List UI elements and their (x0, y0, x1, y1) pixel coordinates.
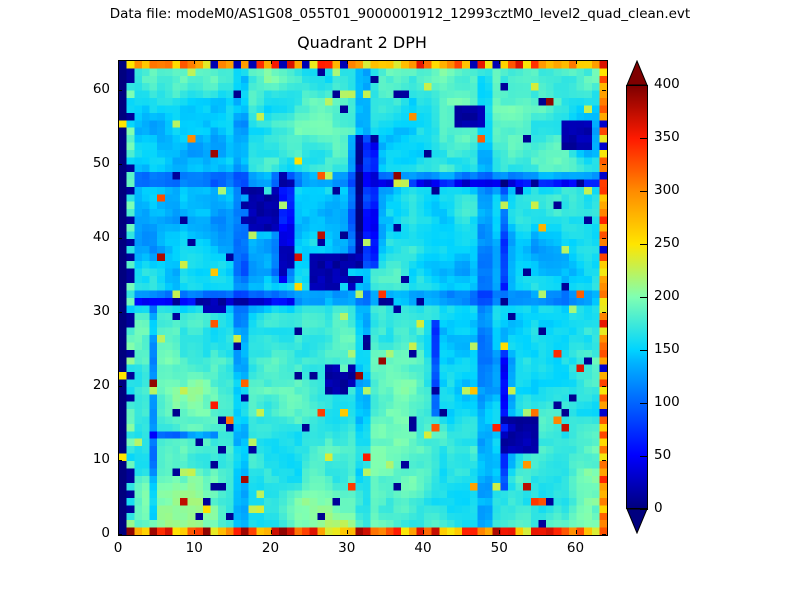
colorbar-tick-mark (640, 85, 648, 86)
data-file-suptitle: Data file: modeM0/AS1G08_055T01_90000019… (0, 6, 800, 22)
colorbar-tick-mark (640, 350, 648, 351)
x-tick-mark (347, 530, 348, 534)
colorbar-tick-mark (640, 509, 648, 510)
y-tick-label: 50 (70, 155, 110, 171)
y-tick-mark-right (602, 238, 606, 239)
colorbar-tick-label: 0 (654, 500, 663, 516)
x-tick-label: 10 (174, 540, 214, 556)
y-tick-mark-right (602, 90, 606, 91)
colorbar-tick-mark (640, 297, 648, 298)
x-tick-mark (271, 530, 272, 534)
x-tick-label: 60 (556, 540, 596, 556)
y-tick-mark (118, 164, 122, 165)
x-tick-label: 40 (403, 540, 443, 556)
y-tick-mark (118, 312, 122, 313)
x-tick-mark (194, 530, 195, 534)
colorbar-tick-label: 400 (654, 76, 680, 92)
colorbar-tick-mark (640, 403, 648, 404)
colorbar-tick-label: 300 (654, 182, 680, 198)
y-tick-mark (118, 534, 122, 535)
x-tick-mark-top (194, 60, 195, 64)
colorbar-tick-label: 250 (654, 235, 680, 251)
x-tick-mark-top (271, 60, 272, 64)
x-tick-label: 0 (98, 540, 138, 556)
y-tick-mark-right (602, 312, 606, 313)
colorbar-tick-label: 100 (654, 394, 680, 410)
y-tick-mark (118, 460, 122, 461)
colorbar-extend-high-arrow (626, 60, 648, 86)
colorbar-extend-low-icon (626, 508, 648, 534)
colorbar-extend-high-icon (626, 60, 648, 86)
y-tick-label: 10 (70, 451, 110, 467)
x-tick-label: 30 (327, 540, 367, 556)
matplotlib-figure: Data file: modeM0/AS1G08_055T01_90000019… (0, 0, 800, 600)
y-tick-mark (118, 90, 122, 91)
y-tick-mark-right (602, 534, 606, 535)
y-tick-label: 20 (70, 377, 110, 393)
y-tick-label: 0 (70, 525, 110, 541)
x-tick-mark (423, 530, 424, 534)
x-tick-mark (576, 530, 577, 534)
x-tick-mark-top (118, 60, 119, 64)
y-tick-mark-right (602, 164, 606, 165)
x-tick-mark-top (347, 60, 348, 64)
colorbar-extend-low-arrow (626, 508, 648, 534)
colorbar-tick-mark (640, 244, 648, 245)
y-tick-label: 40 (70, 229, 110, 245)
x-tick-mark-top (576, 60, 577, 64)
heatmap-axes (118, 60, 608, 536)
y-tick-mark-right (602, 386, 606, 387)
page-title: Quadrant 2 DPH (118, 33, 606, 52)
x-tick-label: 20 (251, 540, 291, 556)
colorbar-tick-label: 50 (654, 447, 671, 463)
colorbar-tick-mark (640, 191, 648, 192)
y-tick-mark (118, 238, 122, 239)
y-tick-mark-right (602, 460, 606, 461)
colorbar-tick-label: 350 (654, 129, 680, 145)
colorbar: 050100150200250300350400 (626, 60, 648, 534)
x-tick-mark (499, 530, 500, 534)
colorbar-tick-mark (640, 138, 648, 139)
x-tick-mark-top (499, 60, 500, 64)
y-tick-label: 60 (70, 81, 110, 97)
colorbar-tick-label: 200 (654, 288, 680, 304)
x-tick-mark-top (423, 60, 424, 64)
y-tick-label: 30 (70, 303, 110, 319)
detector-heatmap-image (119, 61, 607, 535)
x-tick-label: 50 (479, 540, 519, 556)
colorbar-tick-mark (640, 456, 648, 457)
colorbar-tick-label: 150 (654, 341, 680, 357)
y-tick-mark (118, 386, 122, 387)
